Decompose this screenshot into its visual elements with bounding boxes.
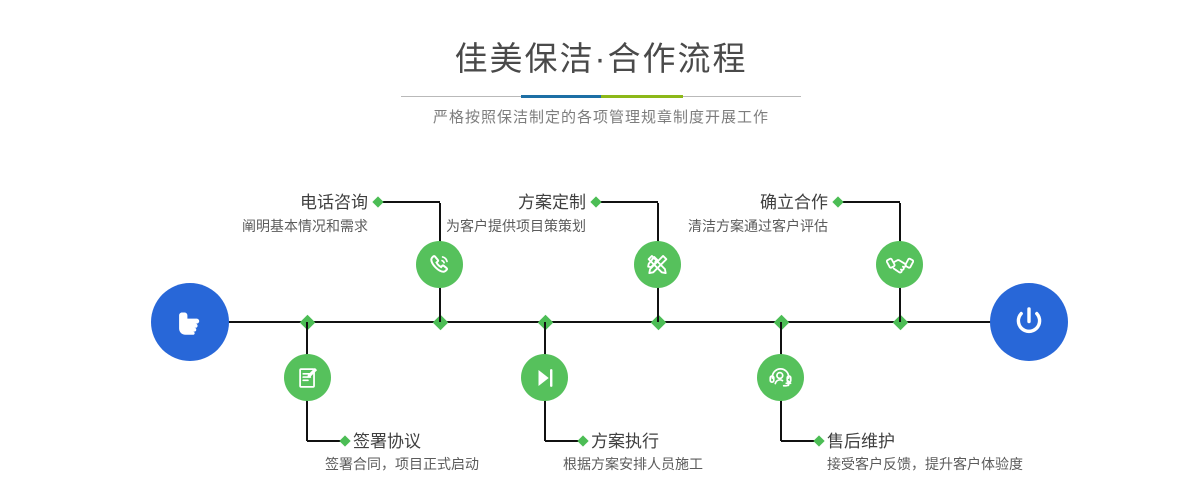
step-title: 售后维护: [827, 433, 895, 450]
pointing-hand-icon: [170, 302, 210, 342]
label-marker: [813, 435, 824, 446]
label-marker: [590, 196, 601, 207]
power-icon: [1008, 301, 1050, 343]
divider-segment-blue: [521, 95, 601, 98]
timeline-start-badge: [151, 283, 229, 361]
label-connector: [378, 201, 440, 203]
step-title: 方案定制: [482, 194, 586, 211]
step-title: 方案执行: [591, 433, 659, 450]
phone-call-icon: [426, 251, 453, 278]
step-desc: 阐明基本情况和需求: [228, 219, 368, 233]
divider-segment-green: [601, 95, 683, 98]
sign-document-icon: [295, 365, 321, 391]
label-connector: [545, 440, 581, 442]
label-marker: [832, 196, 843, 207]
step-title: 确立合作: [724, 194, 828, 211]
step-title: 签署协议: [353, 433, 421, 450]
label-connector: [596, 201, 658, 203]
play-execute-icon: [532, 365, 558, 391]
step-desc: 接受客户反馈，提升客户体验度: [827, 457, 1023, 471]
step-desc: 为客户提供项目策策划: [446, 219, 586, 233]
step-node-2[interactable]: [284, 354, 331, 401]
handshake-icon: [886, 251, 914, 279]
page-title: 佳美保洁·合作流程: [0, 0, 1202, 75]
flow-diagram-canvas: 佳美保洁·合作流程 严格按照保洁制定的各项管理规章制度开展工作: [0, 0, 1202, 502]
pencil-ruler-icon: [644, 251, 671, 278]
step-node-5[interactable]: [876, 241, 923, 288]
step-node-3[interactable]: [634, 241, 681, 288]
step-desc: 根据方案安排人员施工: [563, 457, 703, 471]
page-subtitle: 严格按照保洁制定的各项管理规章制度开展工作: [0, 106, 1202, 127]
step-title: 电话咨询: [264, 194, 368, 211]
step-node-6[interactable]: [757, 354, 804, 401]
title-divider: [401, 95, 801, 98]
header: 佳美保洁·合作流程: [0, 0, 1202, 75]
timeline-end-badge: [990, 283, 1068, 361]
label-marker: [339, 435, 350, 446]
label-marker: [577, 435, 588, 446]
step-desc: 清洁方案通过客户评估: [688, 219, 828, 233]
step-node-4[interactable]: [521, 354, 568, 401]
customer-service-add-icon: [767, 364, 794, 391]
step-node-1[interactable]: [416, 241, 463, 288]
label-connector: [838, 201, 900, 203]
label-marker: [372, 196, 383, 207]
label-connector: [781, 440, 817, 442]
step-desc: 签署合同，项目正式启动: [325, 457, 479, 471]
label-connector: [307, 440, 343, 442]
